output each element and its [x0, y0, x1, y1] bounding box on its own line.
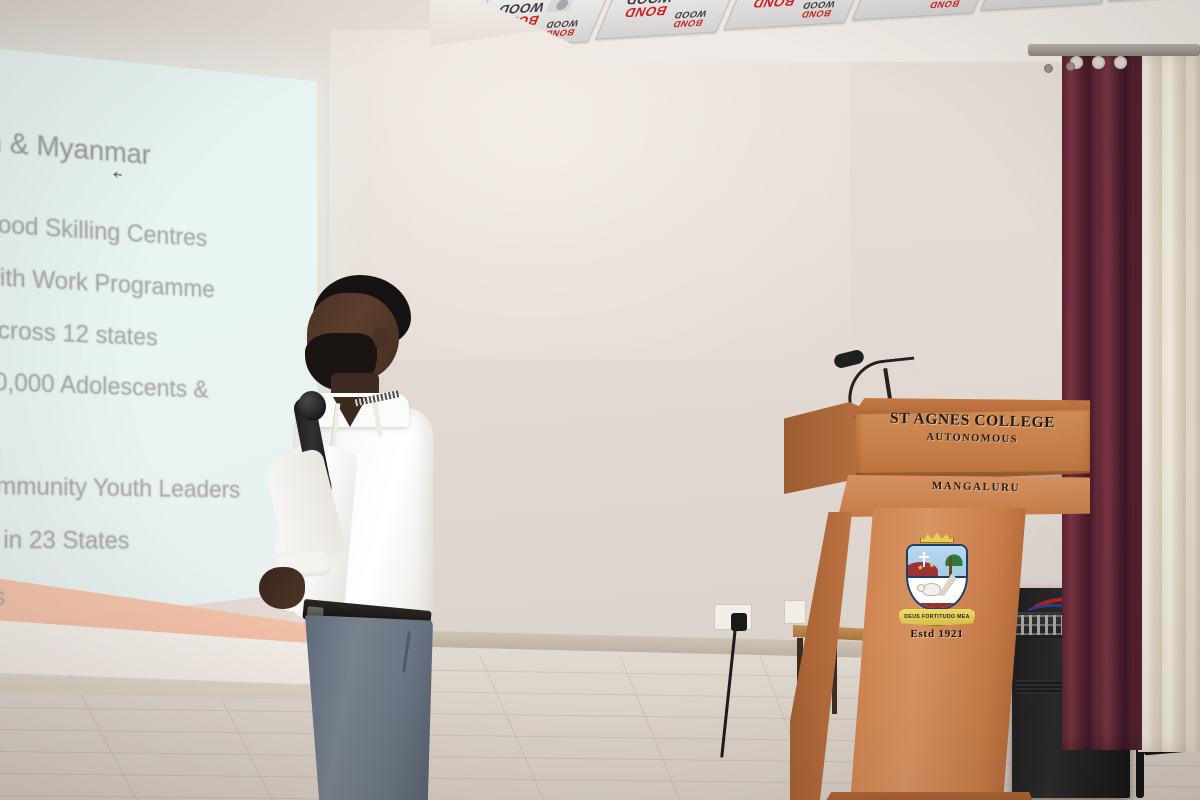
banner-brand-text: BONDWOOD [619, 0, 675, 20]
crest-motto-scroll: DEUS FORTITUDO MEA [898, 608, 976, 626]
presenter-trousers [301, 615, 433, 800]
banner-brand-text: BONDWOOD [747, 0, 803, 10]
curtain-grommet-icon [1114, 56, 1127, 69]
gooseneck-microphone-head-icon[interactable] [833, 349, 865, 370]
presenter-gesturing-hand [259, 567, 305, 609]
crest-red-base [908, 603, 966, 608]
slide-line-5: ommunity Youth Leaders [0, 472, 240, 505]
college-status: AUTONOMOUS [860, 430, 1084, 447]
crest-established-text: Estd 1921 [898, 628, 976, 640]
crest-crown-icon [920, 532, 954, 543]
presenter [255, 275, 485, 800]
ceiling-banner-panel: BONDWOODBONDWOOD [595, 0, 740, 40]
slide-line-0: h & Myanmar [0, 126, 151, 172]
banner-logo-icon [546, 0, 575, 12]
slide-line-7: ts [0, 583, 5, 612]
curtain-rod-bracket [1044, 64, 1053, 73]
podium-left-wing [790, 512, 852, 800]
slide-line-4: 00,000 Adolescents & [0, 368, 209, 405]
banner-brand-text-small: BONDWOOD [797, 0, 837, 19]
presentation-scene: BONDWOODBONDWOODBONDWOODBONDWOODBONDWOOD… [0, 0, 1200, 800]
crest-palm-fronds-icon [943, 552, 965, 566]
crest-motto-text: DEUS FORTITUDO MEA [904, 614, 969, 620]
podium-nameplate: ST AGNES COLLEGE AUTONOMOUS [859, 409, 1085, 477]
floor-tile-line [620, 655, 686, 800]
curtain-rod-bracket [1066, 62, 1075, 71]
curtain-grommet-icon [1092, 56, 1105, 69]
college-crest: DEUS FORTITUDO MEA Estd 1921 [898, 532, 976, 644]
podium-base [818, 792, 1038, 800]
ceiling-banner-panel: BONDWOODBONDWOOD [980, 0, 1125, 11]
slide-line-1: hood Skilling Centres [0, 210, 207, 254]
curtain-rod [1028, 44, 1200, 56]
sheer-curtain [1138, 52, 1200, 752]
ceiling-banner-panel: BONDWOODBONDWOOD [723, 0, 868, 30]
crest-shield [906, 544, 968, 610]
crest-cross-icon [923, 552, 925, 567]
ceiling-banner-panel: BONDWOODBONDWOOD [1108, 0, 1200, 1]
ceiling-banner-panel: BONDWOODBONDWOOD [852, 0, 997, 20]
banner-brand-text-small: BONDWOOD [926, 0, 966, 9]
presenter-ear [373, 327, 389, 349]
lectern-podium: ST AGNES COLLEGE AUTONOMOUS MANGALURU [760, 340, 1090, 800]
banner-brand-text: BONDWOOD [875, 0, 931, 1]
slide-line-3: across 12 states [0, 316, 158, 353]
banner-brand-text-small: BONDWOOD [669, 9, 709, 29]
slide-line-6: s in 23 States [0, 526, 129, 555]
presentation-cursor-icon [113, 171, 121, 178]
slide-line-2: with Work Programme [0, 263, 215, 305]
